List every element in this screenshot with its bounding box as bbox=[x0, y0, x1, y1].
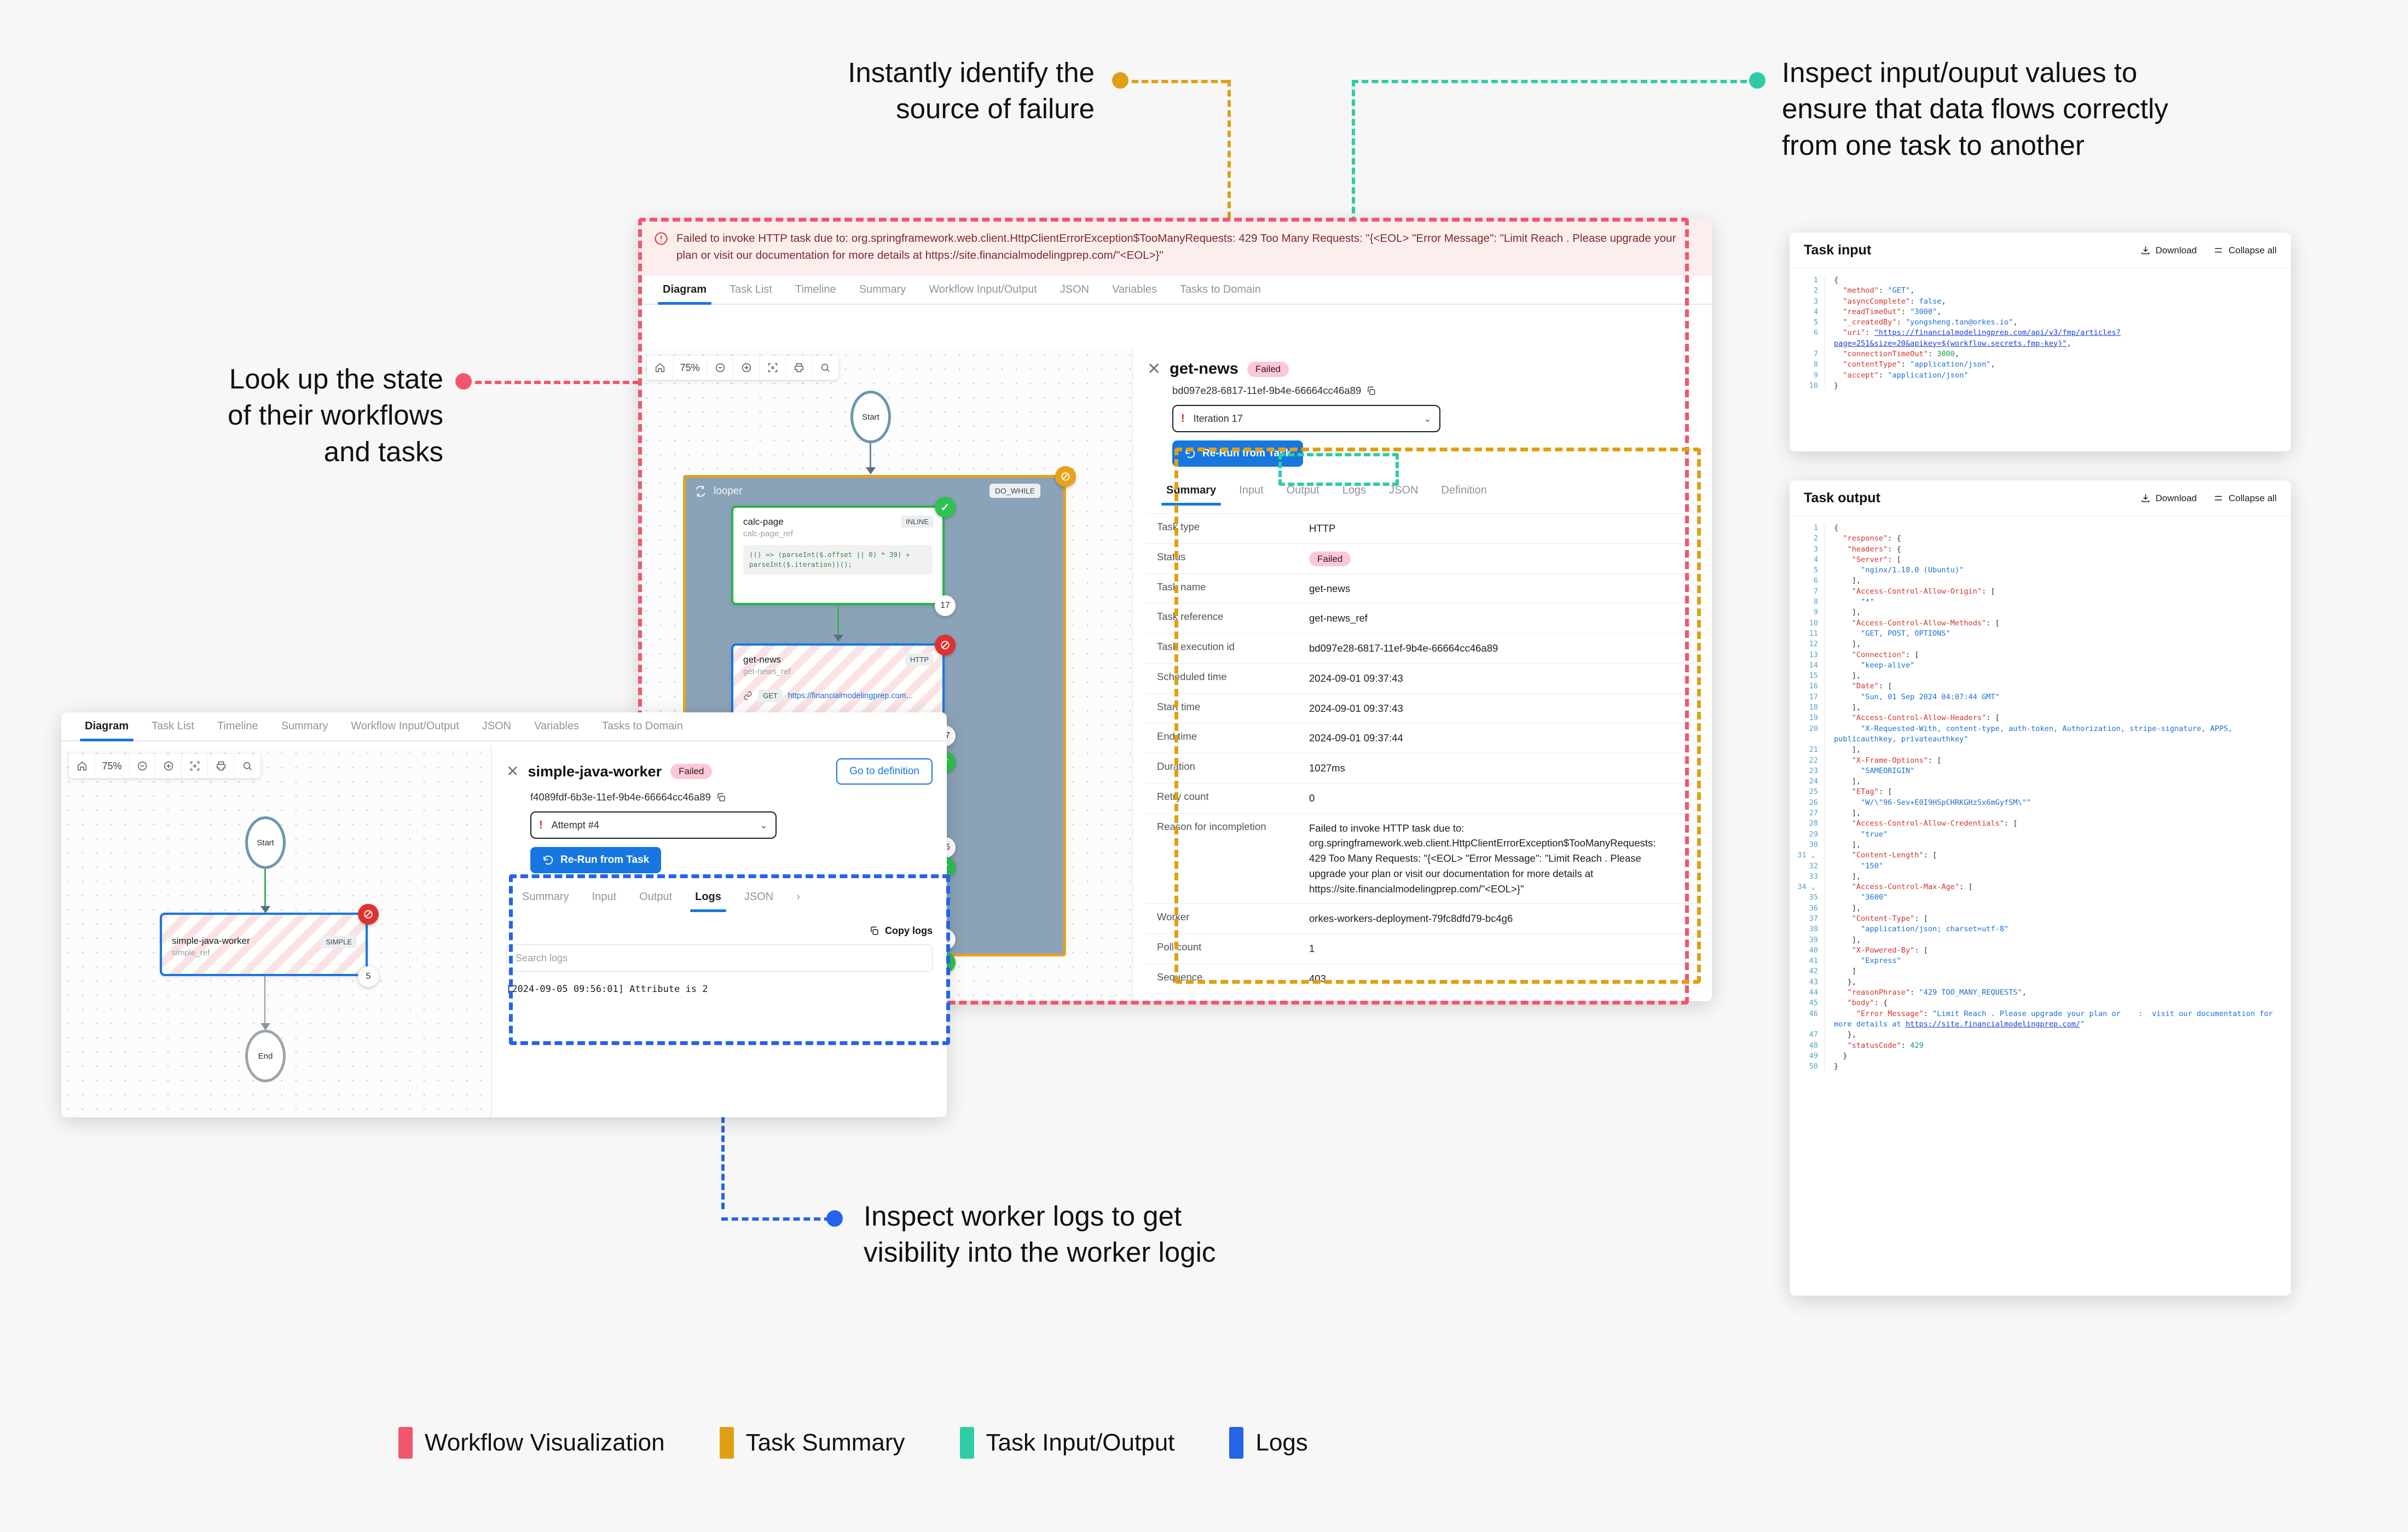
node-http-url[interactable]: https://financialmodelingprep.com... bbox=[788, 692, 913, 700]
code-text: "nginx/1.18.0 (Ubuntu)" bbox=[1825, 565, 2291, 576]
close-icon[interactable]: ✕ bbox=[1147, 361, 1161, 378]
home-icon[interactable] bbox=[647, 356, 673, 380]
workflow-error-banner: Failed to invoke HTTP task due to: org.s… bbox=[639, 219, 1712, 276]
table-row: Poll count 1 bbox=[1145, 934, 1700, 964]
code-line: 21 ], bbox=[1790, 745, 2291, 755]
code-line: 3 "headers": { bbox=[1790, 544, 2291, 555]
code-text: } bbox=[1825, 1051, 2291, 1061]
line-number: 27 bbox=[1790, 808, 1825, 819]
copy-icon[interactable] bbox=[716, 792, 726, 803]
line-number: 19 bbox=[1790, 713, 1825, 723]
page-root: Instantly identify the source of failure… bbox=[0, 0, 2408, 1532]
line-number: 30 bbox=[1790, 840, 1825, 850]
code-text: "GET, POST, OPTIONS" bbox=[1825, 629, 2291, 639]
line-number: 2 bbox=[1790, 533, 1825, 544]
line-number: 1 bbox=[1790, 523, 1825, 533]
code-line: 33 ], bbox=[1790, 872, 2291, 882]
row-key: Poll count bbox=[1145, 941, 1309, 956]
code-text: "Access-Control-Allow-Origin": [ bbox=[1825, 587, 2291, 597]
chevron-down-icon[interactable]: ⌄ bbox=[1811, 883, 1815, 891]
workflow-error-text: Failed to invoke HTTP task due to: org.s… bbox=[676, 230, 1698, 264]
task-input-title: Task input bbox=[1804, 242, 1871, 258]
fit-screen-icon[interactable] bbox=[182, 754, 208, 778]
worker-edge-1 bbox=[264, 869, 266, 908]
code-text: "application/json; charset=utf-8" bbox=[1825, 924, 2291, 935]
code-line: 44 "reasonPhrase": "429 TOO_MANY_REQUEST… bbox=[1790, 988, 2291, 998]
code-line: 41 "Express" bbox=[1790, 956, 2291, 966]
copy-icon bbox=[869, 926, 879, 936]
worker-logs-panel: Copy logs Search logs [2024-09-05 09:56:… bbox=[492, 925, 947, 995]
table-row: Retry count 0 bbox=[1145, 784, 1700, 814]
code-line: 46 "Error Message": "Limit Reach . Pleas… bbox=[1790, 1009, 2291, 1030]
line-number: 48 bbox=[1790, 1041, 1825, 1051]
legend-swatch bbox=[960, 1427, 974, 1459]
detail-tab-more[interactable]: › bbox=[785, 883, 812, 911]
worker-node-start[interactable]: Start bbox=[245, 816, 286, 869]
row-value: Failed to invoke HTTP task due to: org.s… bbox=[1309, 821, 1687, 897]
home-icon[interactable] bbox=[69, 754, 95, 778]
code-line: 30 ], bbox=[1790, 840, 2291, 850]
code-text: ], bbox=[1825, 639, 2291, 649]
line-number: 5 bbox=[1790, 565, 1825, 576]
row-value: 0 bbox=[1309, 791, 1327, 806]
code-line: 29 "true" bbox=[1790, 829, 2291, 840]
table-row: End time 2024-09-01 09:37:44 bbox=[1145, 723, 1700, 753]
code-line: 32 "150" bbox=[1790, 861, 2291, 872]
code-line: 5 "_createdBy": "yongsheng.tan@orkes.io"… bbox=[1790, 317, 2291, 328]
code-line: 6 "uri": "https://financialmodelingprep.… bbox=[1790, 328, 2291, 349]
code-text: ], bbox=[1825, 935, 2291, 945]
line-number: 24 bbox=[1790, 776, 1825, 787]
line-number: 12 bbox=[1790, 639, 1825, 649]
detail-tab-summary[interactable]: Summary bbox=[511, 883, 581, 911]
row-value: 76 bbox=[1309, 1001, 1333, 1002]
code-line: 40 "X-Powered-By": [ bbox=[1790, 945, 2291, 956]
row-value: bd097e28-6817-11ef-9b4e-66664cc46a89 bbox=[1309, 641, 1510, 656]
code-link[interactable]: "https://financialmodelingprep.com/api/v… bbox=[1834, 328, 2121, 347]
node-type-badge: HTTP bbox=[905, 653, 934, 666]
tab-diagram[interactable]: Diagram bbox=[651, 276, 718, 304]
tab-task-list[interactable]: Task List bbox=[140, 712, 206, 740]
row-value: orkes-workers-deployment-79fc8dfd79-bc4g… bbox=[1309, 911, 1525, 926]
table-row: Task name get-news bbox=[1145, 574, 1700, 604]
tab-tasks-to-domain[interactable]: Tasks to Domain bbox=[591, 712, 694, 740]
status-badge: Failed bbox=[1309, 552, 1351, 566]
tab-json[interactable]: JSON bbox=[1049, 276, 1101, 304]
search-icon[interactable] bbox=[812, 356, 838, 380]
callout-state-line-h bbox=[475, 381, 639, 384]
collapse-all-button[interactable]: Collapse all bbox=[2213, 245, 2277, 256]
legend-swatch bbox=[1229, 1427, 1243, 1459]
table-row: Worker orkes-workers-deployment-79fc8dfd… bbox=[1145, 904, 1700, 934]
code-line: 26 "W/\"96-Sev+E0I9HSpCHRKGHzSx6mGyfSM\"… bbox=[1790, 798, 2291, 808]
tab-timeline[interactable]: Timeline bbox=[784, 276, 848, 304]
hamburger-icon bbox=[2213, 493, 2224, 503]
detail-tab-json[interactable]: JSON bbox=[733, 883, 785, 911]
code-line: 45 "body": { bbox=[1790, 998, 2291, 1008]
task-uuid: bd097e28-6817-11ef-9b4e-66664cc46a89 bbox=[1172, 385, 1361, 397]
tab-tasks-to-domain[interactable]: Tasks to Domain bbox=[1168, 276, 1272, 304]
zoom-level-label: 75% bbox=[673, 356, 707, 380]
code-line: 15 ], bbox=[1790, 671, 2291, 681]
row-value: 403 bbox=[1309, 971, 1338, 986]
worker-diagram-canvas[interactable]: 75% Start bbox=[61, 746, 491, 1117]
line-number: 39 bbox=[1790, 935, 1825, 945]
workflow-tab-strip[interactable]: Diagram Task List Timeline Summary Workf… bbox=[639, 276, 1712, 305]
diagram-node-start[interactable]: Start bbox=[850, 391, 891, 443]
fit-screen-icon[interactable] bbox=[760, 356, 786, 380]
iteration-label: Iteration 17 bbox=[1194, 413, 1243, 425]
line-number: 25 bbox=[1790, 787, 1825, 797]
line-number: 32 bbox=[1790, 861, 1825, 872]
tab-diagram[interactable]: Diagram bbox=[73, 712, 140, 740]
task-detail-panel: ✕ get-news Failed bd097e28-6817-11ef-9b4… bbox=[1132, 348, 1712, 1001]
legend-swatch bbox=[398, 1427, 413, 1459]
attempt-label: Attempt #4 bbox=[552, 820, 599, 831]
worker-detail-header: ✕ simple-java-worker Failed Go to defini… bbox=[492, 746, 947, 883]
row-value: get-news_ref bbox=[1309, 611, 1380, 626]
code-line: 3 "asyncComplete": false, bbox=[1790, 297, 2291, 307]
code-text: "method": "GET", bbox=[1825, 286, 2291, 296]
table-row: Sequence 403 bbox=[1145, 964, 1700, 994]
row-key: Worker bbox=[1145, 911, 1309, 926]
node-ref: get-news_ref bbox=[743, 667, 933, 676]
table-row: Reason for incompletion Failed to invoke… bbox=[1145, 814, 1700, 904]
worker-detail-tab-strip[interactable]: Summary Input Output Logs JSON › bbox=[492, 883, 947, 911]
collapse-all-label: Collapse all bbox=[2228, 245, 2277, 256]
line-number: 5 bbox=[1790, 317, 1825, 328]
node-type-badge: SIMPLE bbox=[321, 936, 357, 948]
code-line: 27 ], bbox=[1790, 808, 2291, 819]
code-text: ], bbox=[1825, 745, 2291, 755]
code-text: ], bbox=[1825, 872, 2291, 882]
rerun-icon bbox=[1184, 448, 1196, 460]
callout-state-dot bbox=[455, 373, 472, 390]
node-count-badge: 17 bbox=[935, 595, 956, 616]
group-status-pin-blocked[interactable] bbox=[1055, 466, 1076, 487]
line-number: 50 bbox=[1790, 1061, 1825, 1072]
row-key: Task type bbox=[1145, 521, 1309, 536]
edge-start-to-looper bbox=[870, 443, 871, 469]
line-number: 29 bbox=[1790, 829, 1825, 840]
table-row: Scheduled time 2024-09-01 09:37:43 bbox=[1145, 664, 1700, 694]
code-text: "response": { bbox=[1825, 533, 2291, 544]
diagram-zoom-toolbar[interactable]: 75% bbox=[647, 356, 838, 380]
code-line: 39 ], bbox=[1790, 935, 2291, 945]
collapse-all-button[interactable]: Collapse all bbox=[2213, 493, 2277, 504]
callout-io-dot bbox=[1749, 72, 1766, 89]
line-number: 10 bbox=[1790, 618, 1825, 629]
row-key: Task name bbox=[1145, 581, 1309, 596]
code-text: "Connection": [ bbox=[1825, 650, 2291, 660]
edge-arrow-1 bbox=[866, 467, 876, 474]
plus-circle-icon[interactable] bbox=[155, 754, 182, 778]
code-text: } bbox=[1825, 1061, 2291, 1072]
code-line: 4 "Server": [ bbox=[1790, 555, 2291, 565]
callout-io: Inspect input/ouput values to ensure tha… bbox=[1782, 55, 2362, 164]
detail-tab-input[interactable]: Input bbox=[581, 883, 628, 911]
node-http-method: GET bbox=[758, 689, 783, 702]
attempt-select[interactable]: ! Attempt #4 ⌄ bbox=[530, 811, 777, 839]
code-text: "X-Requested-With, content-type, auth-to… bbox=[1825, 724, 2291, 745]
code-text: }, bbox=[1825, 1030, 2291, 1040]
tab-workflow-input-output[interactable]: Workflow Input/Output bbox=[339, 712, 471, 740]
tab-workflow-input-output[interactable]: Workflow Input/Output bbox=[917, 276, 1049, 304]
code-text: "Date": [ bbox=[1825, 681, 2291, 692]
minus-circle-icon[interactable] bbox=[707, 356, 733, 380]
line-number: 43 bbox=[1790, 977, 1825, 988]
task-uuid-row: bd097e28-6817-11ef-9b4e-66664cc46a89 bbox=[1147, 385, 1698, 397]
line-number: 36 bbox=[1790, 903, 1825, 914]
tab-variables[interactable]: Variables bbox=[1101, 276, 1168, 304]
line-number: 23 bbox=[1790, 766, 1825, 776]
code-text: "Error Message": "Limit Reach . Please u… bbox=[1825, 1009, 2291, 1030]
code-line: 42 ] bbox=[1790, 966, 2291, 977]
start-label: Start bbox=[862, 413, 879, 422]
callout-logs-line-h bbox=[721, 1217, 831, 1221]
rerun-from-task-button[interactable]: Re-Run from Task bbox=[1172, 440, 1303, 467]
zoom-level-label: 75% bbox=[95, 754, 129, 778]
code-text: { bbox=[1825, 275, 2291, 286]
row-value: 2024-09-01 09:37:44 bbox=[1309, 730, 1415, 746]
chevron-down-icon: ⌄ bbox=[1423, 413, 1432, 425]
node-status-pin-success[interactable]: ✓ bbox=[935, 497, 956, 518]
table-row: Status Failed bbox=[1145, 544, 1700, 574]
download-icon bbox=[2140, 493, 2151, 503]
callout-failure: Instantly identify the source of failure bbox=[711, 55, 1095, 127]
code-line: 16 "Date": [ bbox=[1790, 681, 2291, 692]
legend-label: Task Summary bbox=[746, 1429, 905, 1456]
line-number: 3 bbox=[1790, 297, 1825, 307]
tab-timeline[interactable]: Timeline bbox=[206, 712, 270, 740]
line-number: 6 bbox=[1790, 328, 1825, 349]
code-text: "keep-alive" bbox=[1825, 660, 2291, 671]
detail-tab-summary[interactable]: Summary bbox=[1155, 477, 1228, 504]
worker-node-status-pin-failed[interactable] bbox=[358, 904, 379, 925]
table-row: Task execution id bd097e28-6817-11ef-9b4… bbox=[1145, 634, 1700, 664]
code-text: "contentType": "application/json", bbox=[1825, 359, 2291, 370]
legend: Workflow Visualization Task Summary Task… bbox=[398, 1427, 1308, 1459]
rerun-from-task-button[interactable]: Re-Run from Task bbox=[530, 847, 661, 873]
task-output-panel: Task output Download Collapse all 1{2 "r… bbox=[1790, 480, 2291, 1296]
plus-circle-icon[interactable] bbox=[733, 356, 760, 380]
search-logs-input[interactable]: Search logs bbox=[506, 944, 933, 972]
line-number: 22 bbox=[1790, 756, 1825, 766]
detail-tab-input[interactable]: Input bbox=[1228, 477, 1275, 504]
line-number: 2 bbox=[1790, 286, 1825, 296]
log-line: [2024-09-05 09:56:01] Attribute is 2 bbox=[506, 984, 933, 995]
collapse-all-label: Collapse all bbox=[2228, 493, 2277, 504]
code-line: 12 ], bbox=[1790, 639, 2291, 649]
detail-tab-output[interactable]: Output bbox=[1275, 477, 1331, 504]
code-text: "SAMEORIGIN" bbox=[1825, 766, 2291, 776]
node-type-badge: INLINE bbox=[901, 515, 934, 528]
tab-summary[interactable]: Summary bbox=[270, 712, 340, 740]
code-line: 7 "Access-Control-Allow-Origin": [ bbox=[1790, 587, 2291, 597]
printer-icon[interactable] bbox=[208, 754, 234, 778]
code-text: "Content-Type": [ bbox=[1825, 914, 2291, 924]
worker-detail-panel: ✕ simple-java-worker Failed Go to defini… bbox=[491, 746, 947, 1117]
row-value: 1 bbox=[1309, 941, 1327, 956]
search-icon[interactable] bbox=[234, 754, 261, 778]
rerun-label: Re-Run from Task bbox=[560, 854, 649, 866]
line-number: 44 bbox=[1790, 988, 1825, 998]
code-text: "*" bbox=[1825, 597, 2291, 607]
callout-logs-dot bbox=[826, 1210, 843, 1227]
task-summary-table: Task type HTTP Status Failed Task name g… bbox=[1145, 513, 1700, 1001]
close-icon[interactable]: ✕ bbox=[506, 764, 519, 779]
detail-tab-logs[interactable]: Logs bbox=[1331, 477, 1377, 504]
download-label: Download bbox=[2156, 245, 2197, 256]
row-key: Task execution id bbox=[1145, 641, 1309, 656]
download-button[interactable]: Download bbox=[2140, 493, 2197, 504]
legend-swatch bbox=[720, 1427, 734, 1459]
node-ref: simple_ref bbox=[172, 948, 356, 957]
task-output-title: Task output bbox=[1804, 490, 1880, 506]
row-key: Start time bbox=[1145, 701, 1309, 716]
line-number: 3 bbox=[1790, 544, 1825, 555]
line-number: 16 bbox=[1790, 681, 1825, 692]
legend-item-task-input-output: Task Input/Output bbox=[960, 1427, 1175, 1459]
code-text: "W/\"96-Sev+E0I9HSpCHRKGHzSx6mGyfSM\"" bbox=[1825, 798, 2291, 808]
code-line: 47 }, bbox=[1790, 1030, 2291, 1040]
task-detail-tab-strip[interactable]: Summary Input Output Logs JSON Definitio… bbox=[1133, 477, 1712, 504]
code-line: 11 "GET, POST, OPTIONS" bbox=[1790, 629, 2291, 639]
line-number: 7 bbox=[1790, 349, 1825, 359]
line-number: 1 bbox=[1790, 275, 1825, 286]
line-number: 10 bbox=[1790, 381, 1825, 391]
legend-label: Task Input/Output bbox=[986, 1429, 1175, 1456]
worker-node-count-badge: 5 bbox=[358, 966, 379, 987]
code-text: } bbox=[1825, 381, 2291, 391]
line-number: 40 bbox=[1790, 945, 1825, 956]
code-line: 7 "connectionTimeOut": 3000, bbox=[1790, 349, 2291, 359]
iteration-select[interactable]: ! Iteration 17 ⌄ bbox=[1172, 405, 1440, 432]
code-line: 10} bbox=[1790, 381, 2291, 391]
worker-tab-strip[interactable]: Diagram Task List Timeline Summary Workf… bbox=[61, 712, 947, 741]
task-input-code[interactable]: 1{2 "method": "GET",3 "asyncComplete": f… bbox=[1790, 269, 2291, 400]
callout-logs: Inspect worker logs to get visibility in… bbox=[864, 1198, 1389, 1271]
code-text: "readTimeOut": "3000", bbox=[1825, 307, 2291, 317]
chevron-down-icon[interactable]: ⌄ bbox=[1811, 851, 1815, 860]
detail-tab-logs[interactable]: Logs bbox=[684, 883, 733, 911]
minus-circle-icon[interactable] bbox=[129, 754, 155, 778]
tab-summary[interactable]: Summary bbox=[848, 276, 918, 304]
code-link[interactable]: https://site.financialmodelingprep.com/ bbox=[1906, 1020, 2080, 1029]
node-inline-code: (() => (parseInt($.offset || 0) * 39) + … bbox=[743, 545, 933, 574]
line-number: 7 bbox=[1790, 587, 1825, 597]
callout-state: Look up the state of their workflows and… bbox=[82, 361, 443, 470]
code-text: "Server": [ bbox=[1825, 555, 2291, 565]
line-number: 6 bbox=[1790, 576, 1825, 586]
tab-task-list[interactable]: Task List bbox=[718, 276, 784, 304]
code-text: "headers": { bbox=[1825, 544, 2291, 555]
code-text: ], bbox=[1825, 808, 2291, 819]
code-line: 36 ], bbox=[1790, 903, 2291, 914]
detail-tab-json[interactable]: JSON bbox=[1377, 477, 1429, 504]
code-line: 23 "SAMEORIGIN" bbox=[1790, 766, 2291, 776]
task-output-header: Task output Download Collapse all bbox=[1790, 480, 2291, 517]
code-line: 9 ], bbox=[1790, 607, 2291, 618]
detail-tab-definition[interactable]: Definition bbox=[1429, 477, 1498, 504]
code-line: 50} bbox=[1790, 1061, 2291, 1072]
line-number: 21 bbox=[1790, 745, 1825, 755]
code-line: 28 "Access-Control-Allow-Credentials": [ bbox=[1790, 819, 2291, 829]
worker-uuid: f4089fdf-6b3e-11ef-9b4e-66664cc46a89 bbox=[530, 791, 711, 803]
code-line: 14 "keep-alive" bbox=[1790, 660, 2291, 671]
table-row: Start time 2024-09-01 09:37:43 bbox=[1145, 694, 1700, 724]
code-text: "body": { bbox=[1825, 998, 2291, 1008]
rerun-icon bbox=[542, 854, 554, 866]
worker-detail-title: simple-java-worker bbox=[528, 763, 662, 780]
code-text: "X-Powered-By": [ bbox=[1825, 945, 2291, 956]
node-status-pin-failed[interactable] bbox=[935, 635, 956, 655]
code-text: "X-Frame-Options": [ bbox=[1825, 756, 2291, 766]
worker-node-end[interactable]: End bbox=[245, 1030, 286, 1082]
code-line: 1{ bbox=[1790, 275, 2291, 286]
code-line: 43 }, bbox=[1790, 977, 2291, 988]
code-line: 6 ], bbox=[1790, 576, 2291, 586]
code-text: "Access-Control-Max-Age": [ bbox=[1825, 882, 2291, 892]
download-label: Download bbox=[2156, 493, 2197, 504]
code-line: 4 "readTimeOut": "3000", bbox=[1790, 307, 2291, 317]
legend-item-workflow-visualization: Workflow Visualization bbox=[398, 1427, 665, 1459]
node-ref: calc-page_ref bbox=[743, 529, 933, 538]
line-number: 42 bbox=[1790, 966, 1825, 977]
code-line: 2 "method": "GET", bbox=[1790, 286, 2291, 296]
end-label: End bbox=[258, 1052, 273, 1061]
line-number: 4 bbox=[1790, 307, 1825, 317]
code-text: ], bbox=[1825, 776, 2291, 787]
detail-tab-output[interactable]: Output bbox=[628, 883, 684, 911]
callout-failure-line-v bbox=[1228, 80, 1231, 239]
tab-json[interactable]: JSON bbox=[471, 712, 523, 740]
go-to-definition-button[interactable]: Go to definition bbox=[836, 758, 933, 785]
worker-zoom-toolbar[interactable]: 75% bbox=[69, 754, 261, 778]
code-text: }, bbox=[1825, 977, 2291, 988]
alert-bang-icon: ! bbox=[1181, 413, 1185, 425]
tab-variables[interactable]: Variables bbox=[523, 712, 591, 740]
line-number: 4 bbox=[1790, 555, 1825, 565]
printer-icon[interactable] bbox=[786, 356, 812, 380]
alert-circle-icon bbox=[653, 231, 669, 246]
task-output-code[interactable]: 1{2 "response": {3 "headers": {4 "Server… bbox=[1790, 517, 2291, 1081]
row-key: Reason for incompletion bbox=[1145, 821, 1309, 897]
line-number: 45 bbox=[1790, 998, 1825, 1008]
row-key: Duration bbox=[1145, 761, 1309, 776]
copy-icon[interactable] bbox=[1366, 386, 1376, 396]
code-text: "ETag": [ bbox=[1825, 787, 2291, 797]
code-text: "_createdBy": "yongsheng.tan@orkes.io", bbox=[1825, 317, 2291, 328]
worker-node-simple-java-worker[interactable]: simple-java-worker simple_ref SIMPLE bbox=[160, 913, 368, 976]
worker-edge-2 bbox=[264, 976, 265, 1025]
code-text: "asyncComplete": false, bbox=[1825, 297, 2291, 307]
line-number: 8 bbox=[1790, 597, 1825, 607]
legend-label: Logs bbox=[1255, 1429, 1307, 1456]
alert-bang-icon: ! bbox=[539, 819, 543, 832]
table-row: Task reference get-news_ref bbox=[1145, 603, 1700, 634]
table-row: Duration 1027ms bbox=[1145, 753, 1700, 784]
diagram-node-calc-page[interactable]: calc-page calc-page_ref INLINE (() => (p… bbox=[731, 506, 945, 605]
download-button[interactable]: Download bbox=[2140, 245, 2197, 256]
code-line: 8 "*" bbox=[1790, 597, 2291, 607]
code-text: "Access-Control-Allow-Headers": [ bbox=[1825, 713, 2291, 723]
row-value: 2024-09-01 09:37:43 bbox=[1309, 701, 1415, 716]
line-number: 17 bbox=[1790, 692, 1825, 703]
copy-logs-button[interactable]: Copy logs bbox=[506, 925, 933, 937]
row-value: get-news bbox=[1309, 581, 1362, 596]
line-number: 26 bbox=[1790, 798, 1825, 808]
